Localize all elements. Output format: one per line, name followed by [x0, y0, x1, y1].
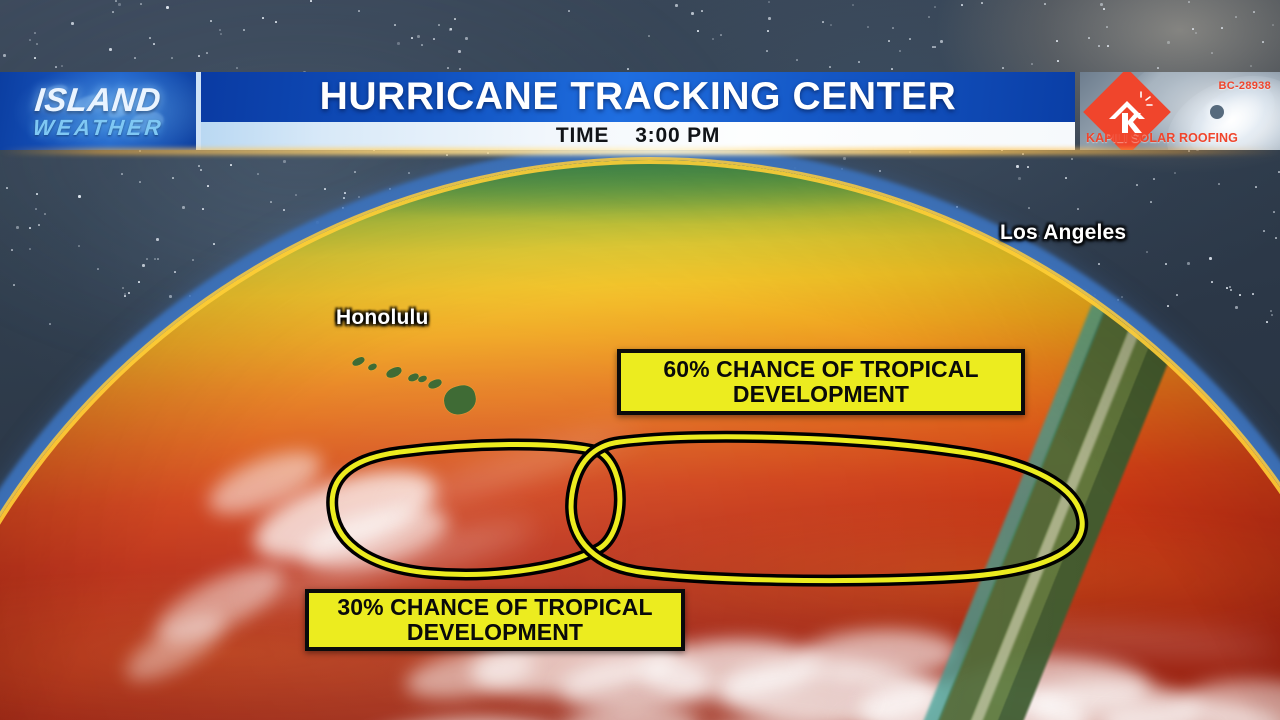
hurricane-eye-icon — [1210, 105, 1224, 119]
station-logo-weather: WEATHER — [31, 116, 164, 139]
time-label: TIME — [556, 124, 609, 148]
callout-30-text: 30% CHANCE OF TROPICAL DEVELOPMENT — [337, 595, 652, 645]
station-logo: ISLAND WEATHER — [0, 72, 196, 150]
page-title: HURRICANE TRACKING CENTER — [320, 75, 957, 119]
callout-60-line2: DEVELOPMENT — [733, 381, 909, 407]
title-bar: ISLAND WEATHER HURRICANE TRACKING CENTER… — [0, 72, 1280, 150]
station-logo-island: ISLAND — [33, 84, 162, 116]
city-label-los-angeles: Los Angeles — [1000, 221, 1126, 245]
title-bar-main: HURRICANE TRACKING CENTER TIME 3:00 PM — [201, 72, 1075, 150]
sponsor-license-number: BC-28938 — [1218, 80, 1271, 92]
city-label-honolulu: Honolulu — [336, 306, 429, 330]
hawaiian-islands — [352, 342, 492, 422]
title-bar-timestrip: TIME 3:00 PM — [201, 122, 1075, 150]
sponsor-name: KAPILI SOLAR ROOFING — [1086, 131, 1238, 145]
title-bar-headline: HURRICANE TRACKING CENTER — [201, 72, 1075, 122]
sponsor-banner[interactable]: BC-28938 KAPILI SOLAR ROOFING — [1080, 72, 1280, 150]
time-value: 3:00 PM — [635, 124, 720, 148]
callout-30-line1: 30% CHANCE OF TROPICAL — [337, 594, 652, 620]
callout-60-text: 60% CHANCE OF TROPICAL DEVELOPMENT — [663, 357, 978, 407]
broadcast-graphic: Honolulu Los Angeles 60% CHANCE OF TROPI… — [0, 0, 1280, 720]
callout-60-line1: 60% CHANCE OF TROPICAL — [663, 356, 978, 382]
callout-box-30-percent: 30% CHANCE OF TROPICAL DEVELOPMENT — [305, 589, 685, 651]
callout-box-60-percent: 60% CHANCE OF TROPICAL DEVELOPMENT — [617, 349, 1025, 415]
title-bar-glow — [0, 148, 1280, 155]
callout-30-line2: DEVELOPMENT — [407, 619, 583, 645]
